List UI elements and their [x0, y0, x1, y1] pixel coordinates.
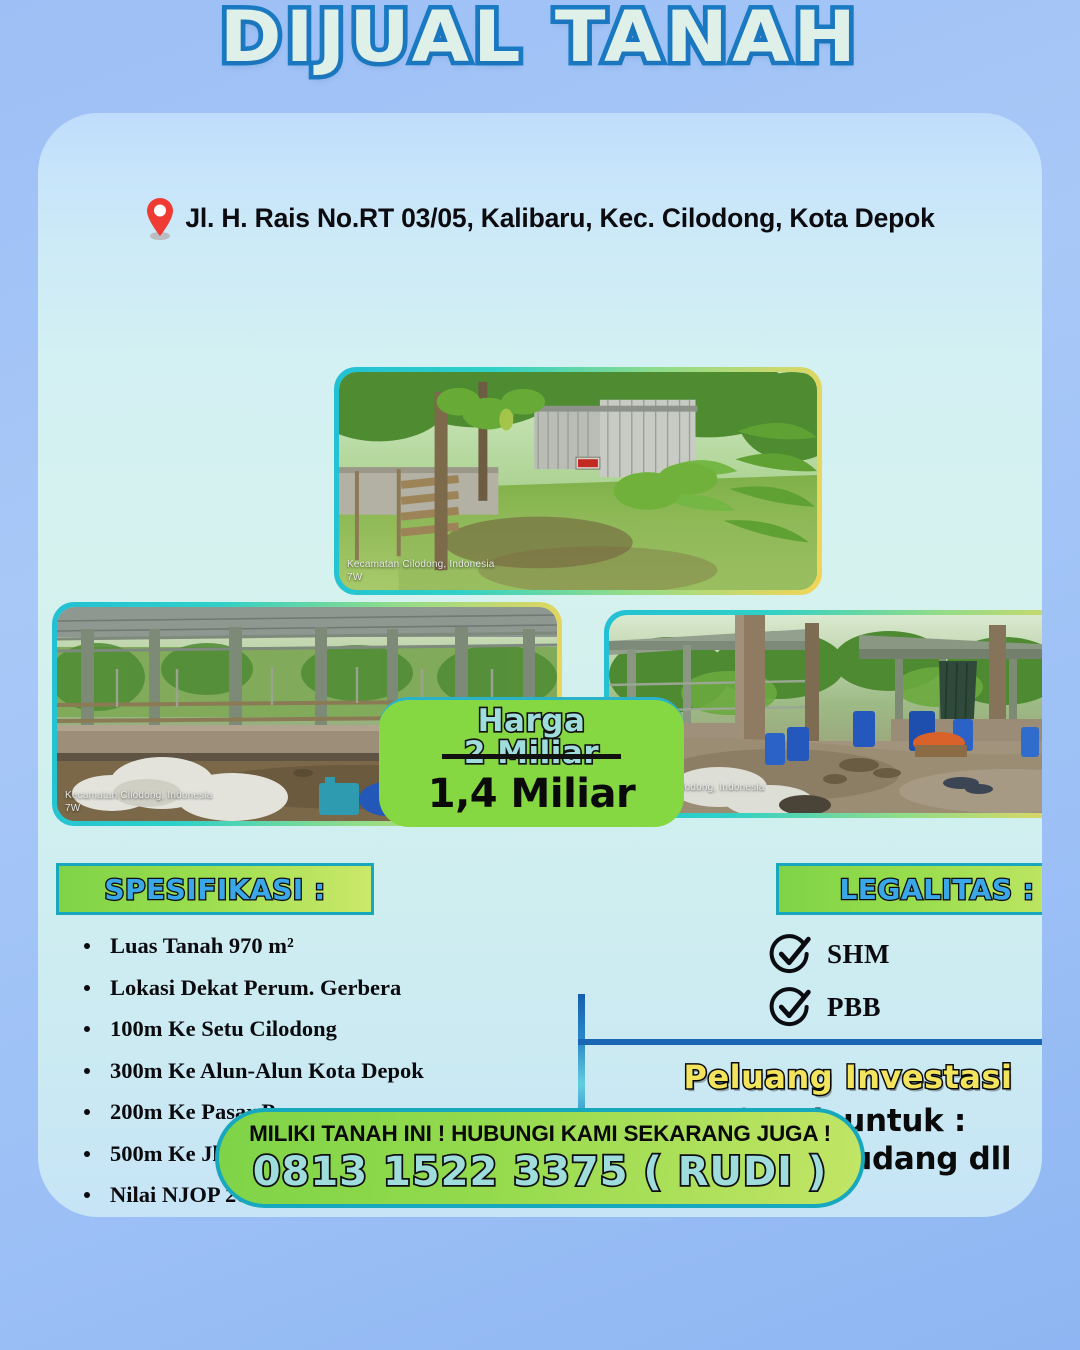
legalitas-label: PBB	[827, 992, 881, 1023]
price-strikethrough	[442, 754, 621, 759]
watermark-line-1: Kecamatan Cilodong, Indonesia	[347, 559, 495, 572]
cta-headline: MILIKI TANAH INI ! HUBUNGI KAMI SEKARANG…	[219, 1121, 861, 1147]
poster-card: Kecamatan Cilodong, Indonesia 7W	[38, 113, 1042, 1217]
photo-watermark: Kecamatan Cilodong, Indonesia 7W	[347, 559, 495, 584]
cta-banner[interactable]: MILIKI TANAH INI ! HUBUNGI KAMI SEKARANG…	[215, 1108, 865, 1208]
horizontal-divider	[578, 1039, 1042, 1045]
photo-watermark: Kecamatan Cilodong, Indonesia 7W	[65, 790, 213, 815]
check-circle-icon	[769, 986, 811, 1028]
photo-land-front-inner: Kecamatan Cilodong, Indonesia 7W	[339, 372, 817, 590]
spesifikasi-banner: SPESIFIKASI :	[56, 863, 374, 915]
watermark-line-1: Kecamatan Cilodong, Indonesia	[65, 790, 213, 803]
list-item: 300m Ke Alun-Alun Kota Depok	[68, 1050, 538, 1092]
legalitas-item-pbb: PBB	[769, 986, 881, 1028]
price-label: Harga	[379, 706, 684, 738]
spesifikasi-heading: SPESIFIKASI :	[104, 873, 325, 906]
check-circle-icon	[769, 933, 811, 975]
list-item: Luas Tanah 970 m²	[68, 925, 538, 967]
address-row: Jl. H. Rais No.RT 03/05, Kalibaru, Kec. …	[0, 196, 1080, 240]
title-wrap: DIJUAL TANAH	[0, 2, 1080, 72]
legalitas-heading: LEGALITAS :	[839, 873, 1034, 906]
legalitas-banner: LEGALITAS :	[776, 863, 1042, 915]
price-badge: Harga 2 Miliar 1,4 Miliar	[379, 697, 684, 827]
price-old-value: 2 Miliar	[464, 735, 599, 771]
address-text: Jl. H. Rais No.RT 03/05, Kalibaru, Kec. …	[185, 203, 934, 234]
list-item: 100m Ke Setu Cilodong	[68, 1008, 538, 1050]
list-item: Lokasi Dekat Perum. Gerbera	[68, 967, 538, 1009]
map-pin-icon	[145, 196, 175, 240]
legalitas-label: SHM	[827, 939, 890, 970]
watermark-line-2: 7W	[65, 803, 213, 816]
peluang-investasi-title: Peluang Investasi	[598, 1059, 1042, 1097]
land-front-illustration	[339, 372, 817, 590]
legalitas-item-shm: SHM	[769, 933, 890, 975]
photo-land-front: Kecamatan Cilodong, Indonesia 7W	[334, 367, 822, 595]
page-title: DIJUAL TANAH	[220, 2, 860, 72]
watermark-line-2: 7W	[347, 572, 495, 585]
price-new-value: 1,4 Miliar	[379, 771, 684, 817]
cta-phone-number[interactable]: 0813 1522 3375 ( RUDI )	[219, 1149, 861, 1195]
price-old-wrap: 2 Miliar	[464, 738, 599, 770]
